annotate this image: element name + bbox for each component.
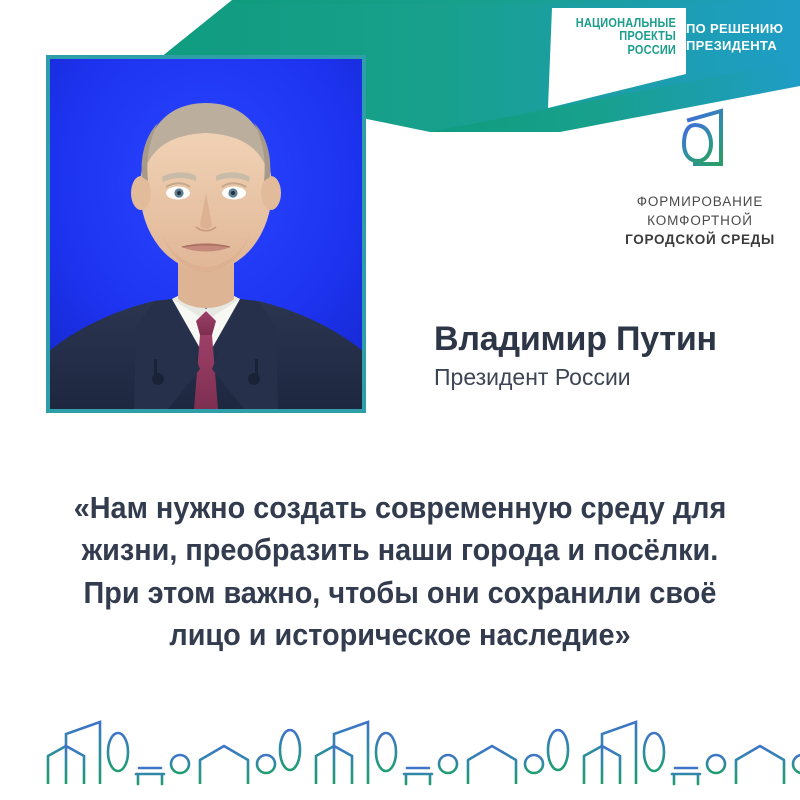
poster-root: НАЦИОНАЛЬНЫЕ ПРОЕКТЫ РОССИИ ПО РЕШЕНИЮ П…: [0, 0, 800, 800]
portrait-photo: [46, 55, 366, 413]
quote-line-3: При этом важно, чтобы они сохранили своё: [65, 572, 735, 614]
portrait-graphic: [50, 59, 362, 409]
emblem-title-line2: КОМФОРТНОЙ: [612, 211, 788, 230]
comfortable-urban-environment-logo: ФОРМИРОВАНИЕ КОМФОРТНОЙ ГОРОДСКОЙ СРЕДЫ: [612, 108, 788, 249]
house-frame-leaf-icon: [671, 108, 729, 178]
person-name: Владимир Путин: [434, 322, 784, 358]
quote-line-1: «Нам нужно создать современную среду для: [65, 487, 735, 529]
slogan-line1: ПО РЕШЕНИЮ: [686, 20, 783, 37]
skyline-graphic: [0, 712, 800, 792]
emblem-title: ФОРМИРОВАНИЕ КОМФОРТНОЙ ГОРОДСКОЙ СРЕДЫ: [612, 192, 788, 249]
np-logo-line3: РОССИИ: [574, 44, 676, 57]
emblem-title-line1: ФОРМИРОВАНИЕ: [612, 192, 788, 211]
city-skyline-decoration: [0, 712, 800, 792]
person-role: Президент России: [434, 364, 784, 390]
national-projects-logo: НАЦИОНАЛЬНЫЕ ПРОЕКТЫ РОССИИ: [574, 17, 676, 57]
person-info: Владимир Путин Президент России: [434, 322, 784, 390]
quote-text: «Нам нужно создать современную среду для…: [65, 487, 735, 657]
quote-line-4: лицо и историческое наследие»: [65, 614, 735, 656]
quote-line-2: жизни, преобразить наши города и посёлки…: [65, 529, 735, 571]
slogan-line2: ПРЕЗИДЕНТА: [686, 37, 783, 54]
banner-slogan: ПО РЕШЕНИЮ ПРЕЗИДЕНТА: [686, 20, 783, 55]
np-logo-line2: ПРОЕКТЫ: [574, 30, 676, 43]
np-logo-line1: НАЦИОНАЛЬНЫЕ: [574, 17, 676, 30]
emblem-title-line3: ГОРОДСКОЙ СРЕДЫ: [612, 230, 788, 249]
